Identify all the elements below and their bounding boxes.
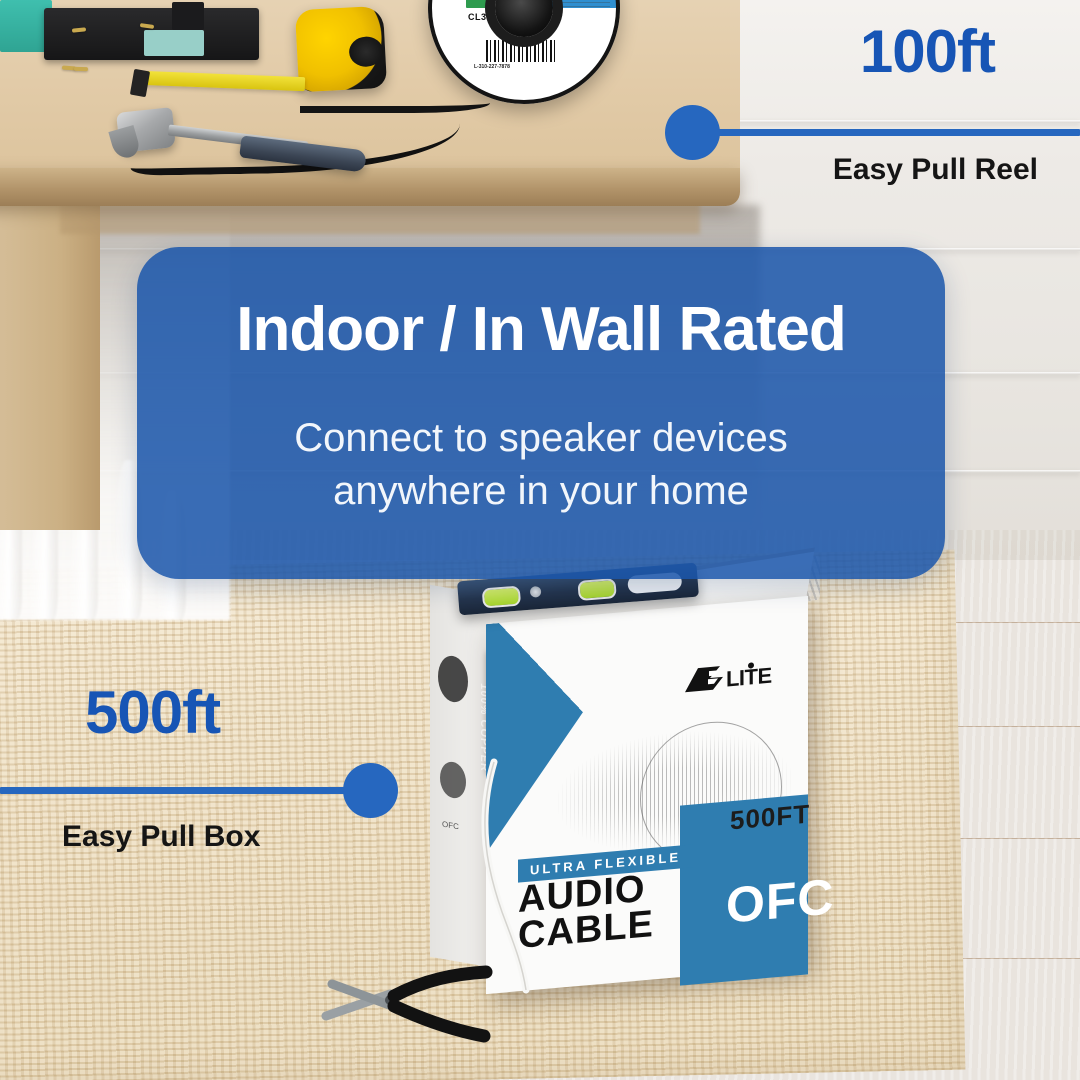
callout-label-reel: Easy Pull Reel bbox=[833, 155, 1038, 185]
headline-banner: Indoor / In Wall Rated Connect to speake… bbox=[137, 247, 945, 579]
headline-subtitle-line1: Connect to speaker devices bbox=[294, 416, 788, 460]
callout-dot-reel bbox=[665, 105, 720, 160]
callout-length-box: 500ft bbox=[85, 683, 220, 743]
headline-subtitle: Connect to speaker devices anywhere in y… bbox=[137, 412, 945, 518]
product-infographic: CL3R AUDIO CABLE L-310-227-7878 100% COP… bbox=[0, 0, 1080, 1080]
callout-length-reel: 100ft bbox=[860, 22, 995, 82]
overlay-graphics: 100ft Easy Pull Reel 500ft Easy Pull Box… bbox=[0, 0, 1080, 1080]
callout-line-reel bbox=[690, 129, 1080, 136]
callout-label-box: Easy Pull Box bbox=[62, 822, 260, 852]
headline-title: Indoor / In Wall Rated bbox=[137, 299, 945, 361]
headline-subtitle-line2: anywhere in your home bbox=[333, 469, 749, 513]
callout-line-box bbox=[0, 787, 375, 794]
callout-dot-box bbox=[343, 763, 398, 818]
